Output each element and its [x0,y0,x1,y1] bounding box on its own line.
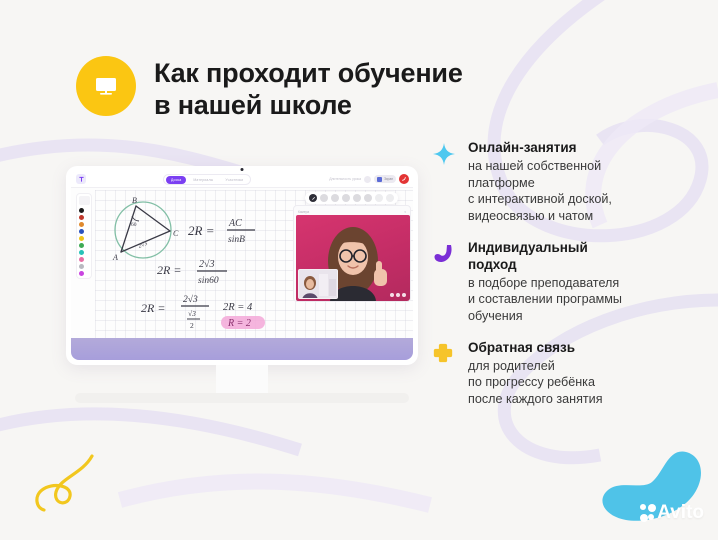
app-logo-glyph [78,176,85,183]
feature-body: Обратная связь для родителей по прогресс… [468,340,603,408]
lesson-duration-label: Длительность урока [329,177,361,181]
formula1-den: sinB [228,235,245,245]
swatch-orange[interactable] [79,222,84,227]
feature-desc-line: на нашей собственной [468,158,612,175]
swatch-black[interactable] [79,208,84,213]
teacher-video-feed [296,215,410,301]
formula3-den-den: 2 [190,321,194,330]
monitor-mockup: Доска Материалы Участники Длительность у… [66,166,418,365]
formula2-den: sin60 [198,276,219,286]
pen-icon [85,215,90,220]
video-call-panel[interactable]: Камера ▾ [293,205,411,302]
pen-icon [85,257,90,262]
phone-hangup-glyph [401,176,407,182]
tab-materials[interactable]: Материалы [188,176,218,184]
video-control-dot[interactable] [390,293,394,297]
feature-item-individual-approach: Индивидуальный подход в подборе преподав… [432,240,694,325]
vertex-c-label: C [173,229,179,238]
formula1-num: AC [228,218,242,229]
app-tab-group[interactable]: Доска Материалы Участники [163,174,251,185]
app-topbar-right: Длительность урока Экран [329,174,409,184]
formula1-left: 2R = [188,223,214,238]
avito-dot [648,504,656,512]
undo-tool-button[interactable] [375,194,383,202]
page-header: Как проходит обучение в нашей школе [76,56,463,122]
avito-dots-icon [640,504,654,522]
student-video-feed[interactable] [298,269,338,299]
avito-dot [640,514,648,522]
text-tool-button[interactable] [342,194,350,202]
palette-row[interactable] [79,207,90,213]
redo-tool-button[interactable] [386,194,394,202]
feature-description: для родителей по прогрессу ребёнка после… [468,358,603,408]
avito-dot [640,504,646,510]
pen-icon [85,264,90,269]
pen-tool-button[interactable] [309,194,317,202]
feature-desc-line: и составлении программы [468,291,622,308]
pen-icon [85,229,90,234]
feature-desc-line: обучения [468,308,622,325]
eraser-tool-button[interactable] [79,196,90,205]
plus-icon [432,340,458,408]
avito-watermark: Avito [640,502,704,524]
feature-item-feedback: Обратная связь для родителей по прогресс… [432,340,694,408]
monitor-stand-neck [216,365,268,395]
student-figure [299,270,338,299]
plus-glyph [432,342,454,364]
monitor-glyph [91,71,121,101]
swatch-pink[interactable] [79,257,84,262]
chevron-down-icon[interactable]: ▾ [404,210,406,214]
pen-icon [85,271,90,276]
swatch-gray[interactable] [79,264,84,269]
swatch-green[interactable] [79,243,84,248]
app-topbar: Доска Материалы Участники Длительность у… [71,171,413,188]
video-panel-label: Камера [298,210,309,214]
share-screen-label: Экран [384,177,393,181]
palette-row[interactable] [79,263,90,269]
swatch-red[interactable] [79,215,84,220]
feature-body: Онлайн-занятия на нашей собственной плат… [468,140,612,225]
palette-row[interactable] [79,221,90,227]
color-palette[interactable] [76,193,92,279]
video-control-dot[interactable] [402,293,406,297]
page-title-line2: в нашей школе [154,90,463,122]
feature-desc-line: с интерактивной доской, [468,191,612,208]
feature-desc-line: видеосвязью и чатом [468,208,612,225]
tab-participants[interactable]: Участники [220,176,248,184]
palette-row[interactable] [79,270,90,276]
formula2-num: 2√3 [199,259,215,270]
vertex-a-label: A [112,253,118,262]
result-highlight: R = 2 [227,318,251,329]
monitor-screen-frame: Доска Материалы Участники Длительность у… [66,166,418,365]
feature-title: Онлайн-занятия [468,140,612,157]
avito-dot [648,514,654,520]
add-tool-button[interactable] [364,194,372,202]
page-title: Как проходит обучение в нашей школе [154,56,463,122]
feature-body: Индивидуальный подход в подборе преподав… [468,240,622,325]
video-control-dot[interactable] [396,293,400,297]
app-logo-icon[interactable] [76,174,86,184]
pen-icon [85,208,90,213]
swatch-teal[interactable] [79,250,84,255]
pen-icon [85,236,90,241]
pen-icon [85,243,90,248]
page-title-line1: Как проходит обучение [154,58,463,90]
monitor-chin [71,338,413,360]
feature-desc-line: в подборе преподавателя [468,275,622,292]
vertex-b-label: B [132,196,137,205]
monitor-display: Доска Материалы Участники Длительность у… [71,171,413,341]
video-controls-dots[interactable] [390,293,406,297]
end-call-icon[interactable] [399,174,409,184]
star-icon [432,140,458,225]
feature-title-line2: подход [468,257,622,274]
feature-title: Индивидуальный подход [468,240,622,274]
feature-desc-line: для родителей [468,358,603,375]
screen-share-icon [377,177,382,182]
palette-row[interactable] [79,242,90,248]
palette-row[interactable] [79,214,90,220]
swatch-blue[interactable] [79,229,84,234]
avito-wordmark: Avito [657,502,704,524]
result-line: 2R = 4 [223,302,253,313]
feature-title-line1: Индивидуальный [468,240,588,255]
palette-row[interactable] [79,228,90,234]
formula2-left: 2R = [157,263,181,277]
video-panel-header: Камера ▾ [296,208,408,215]
eraser-tool-button[interactable] [320,194,328,202]
monitor-icon [76,56,136,116]
shapes-tool-button[interactable] [331,194,339,202]
palette-row[interactable] [79,235,90,241]
feature-desc-line: после каждого занятия [468,391,603,408]
star-glyph [432,142,456,166]
pen-icon [85,222,90,227]
feature-item-online-lessons: Онлайн-занятия на нашей собственной плат… [432,140,694,225]
feature-title: Обратная связь [468,340,603,357]
feature-list: Онлайн-занятия на нашей собственной плат… [432,140,694,423]
palette-row[interactable] [79,249,90,255]
pen-icon [85,250,90,255]
feature-description: на нашей собственной платформе с интерак… [468,158,612,225]
pen-glyph [311,196,316,201]
formula3-den-num: √3 [188,309,196,318]
share-screen-chip[interactable]: Экран [374,175,396,183]
angle-label: 60 [131,222,137,228]
formula3-num: 2√3 [183,294,198,305]
squiggle-decoration [30,452,110,522]
feature-desc-line: платформе [468,175,612,192]
formula3-left: 2R = [141,301,165,315]
floating-toolbar[interactable] [305,192,398,204]
swatch-yellow[interactable] [79,236,84,241]
feature-desc-line: по прогрессу ребёнка [468,374,603,391]
monitor-stand-base [75,393,409,403]
tab-board[interactable]: Доска [166,176,186,184]
poster-canvas: Как проходит обучение в нашей школе Доск… [0,0,718,540]
feature-description: в подборе преподавателя и составлении пр… [468,275,622,325]
crescent-glyph [432,242,456,266]
crescent-icon [432,240,458,325]
gear-icon[interactable] [364,176,371,183]
image-tool-button[interactable] [353,194,361,202]
palette-row[interactable] [79,256,90,262]
swatch-magenta[interactable] [79,271,84,276]
